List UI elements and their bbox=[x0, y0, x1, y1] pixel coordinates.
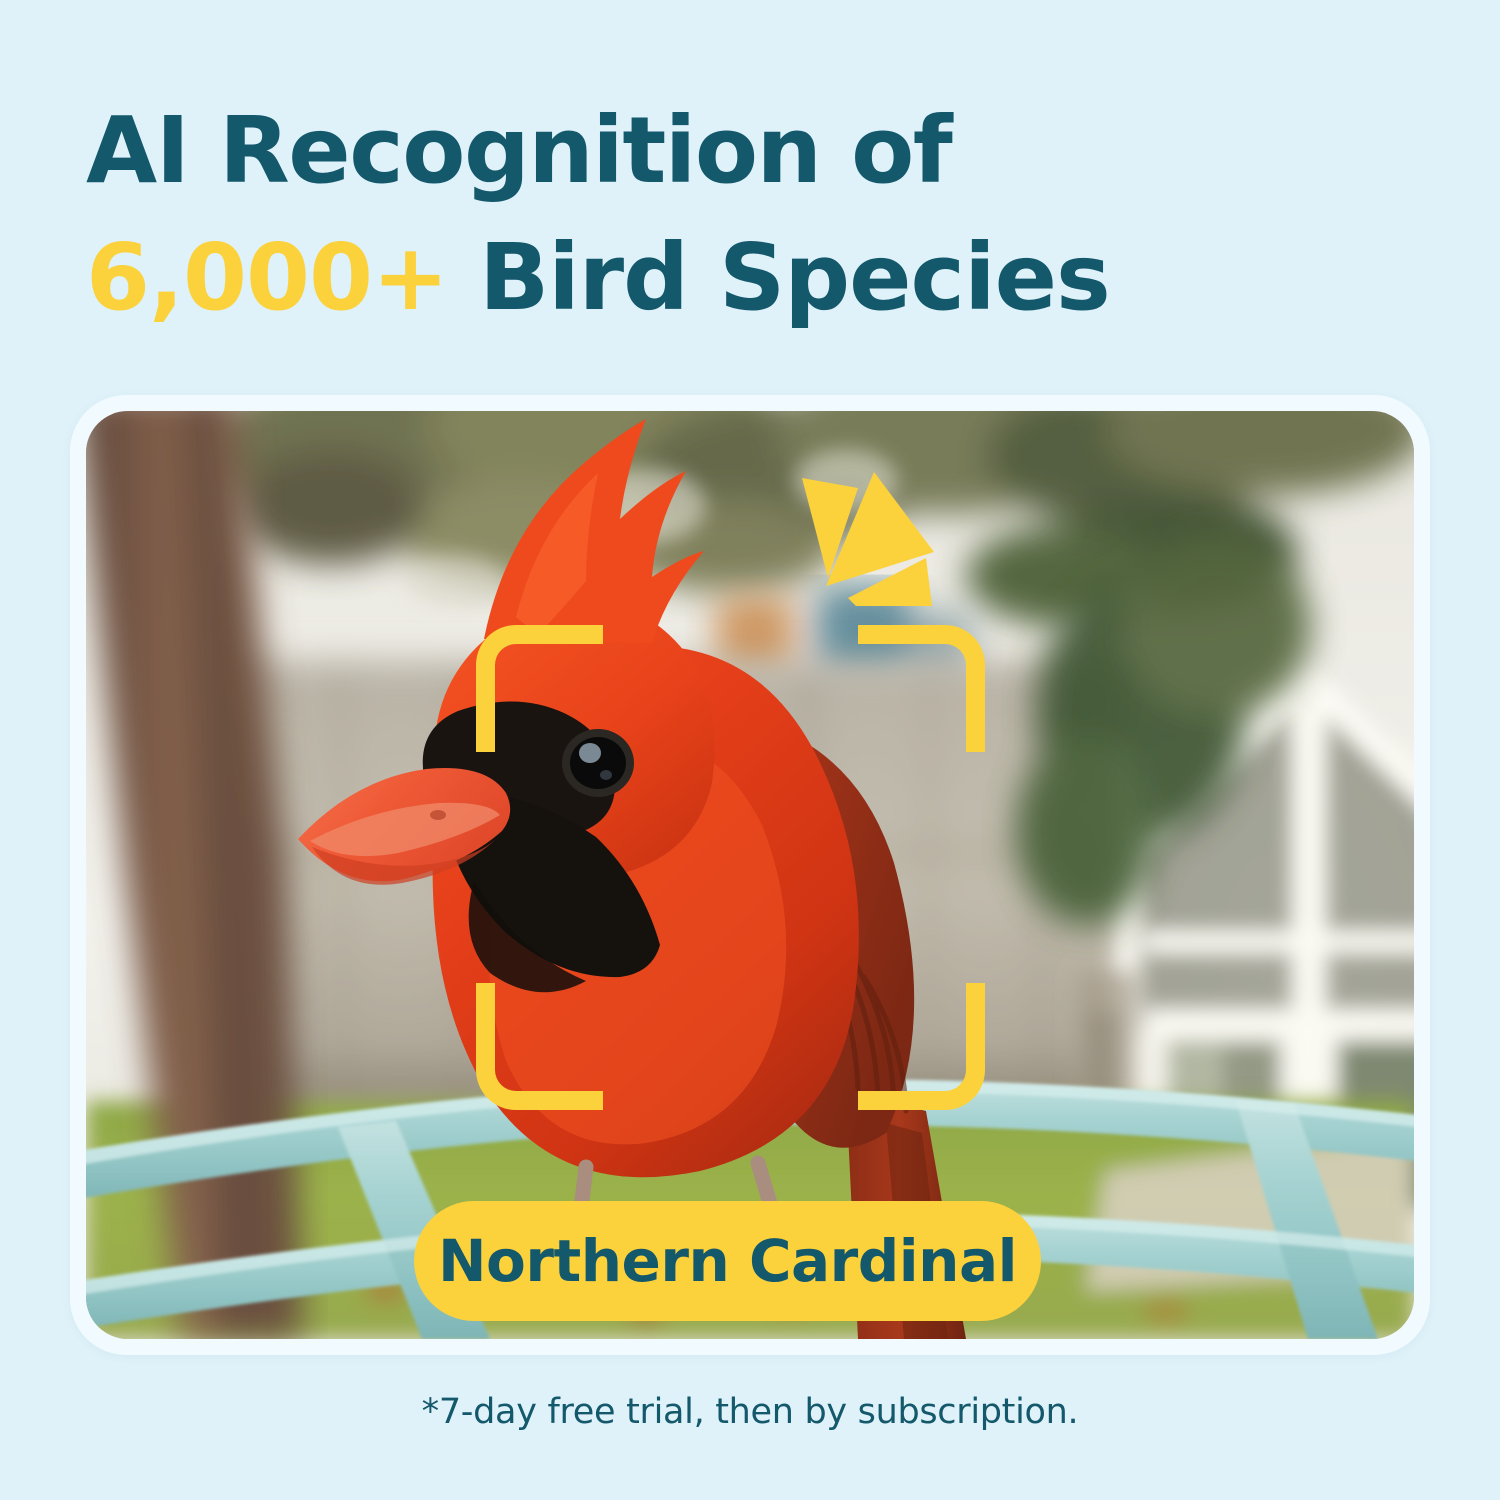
headline-line-2: 6,000+ Bird Species bbox=[86, 215, 1416, 342]
photo-card: Northern Cardinal bbox=[70, 395, 1430, 1355]
species-tag[interactable]: Northern Cardinal bbox=[414, 1201, 1041, 1321]
backyard-scene-illustration bbox=[86, 411, 1414, 1339]
footnote-disclaimer: *7-day free trial, then by subscription. bbox=[0, 1392, 1500, 1432]
bird-photo[interactable]: Northern Cardinal bbox=[86, 411, 1414, 1339]
headline-line-1: AI Recognition of bbox=[86, 88, 1416, 215]
headline-line-2-rest: Bird Species bbox=[479, 224, 1110, 331]
species-count: 6,000+ bbox=[86, 224, 448, 331]
species-tag-label: Northern Cardinal bbox=[438, 1227, 1017, 1295]
page-title: AI Recognition of 6,000+ Bird Species bbox=[86, 88, 1416, 342]
